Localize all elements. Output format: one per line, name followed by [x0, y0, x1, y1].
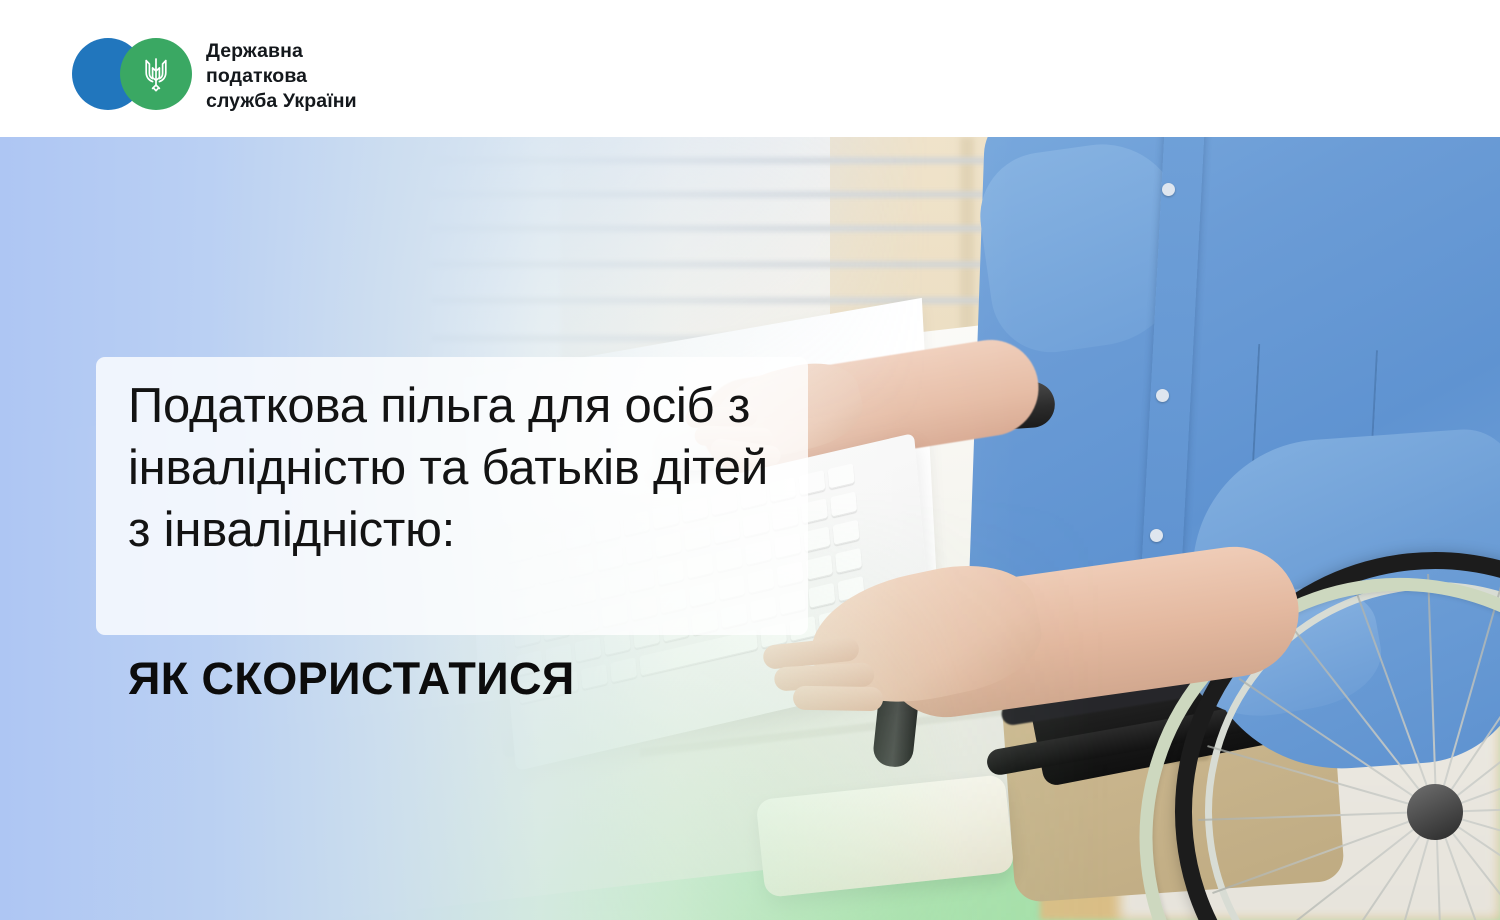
logo-wordmark: Державна податкова служба України [206, 38, 357, 114]
ukrainian-trident-icon [141, 55, 171, 93]
hero-title: Податкова пільга для осіб з інвалідністю… [128, 375, 788, 561]
green-circle-icon [120, 38, 192, 110]
hero-artwork: Податкова пільга для осіб з інвалідністю… [0, 137, 1500, 920]
logo-wordmark-line-2: податкова [206, 64, 357, 89]
title-card: Податкова пільга для осіб з інвалідністю… [96, 357, 808, 635]
banner-root: Державна податкова служба України [0, 0, 1500, 920]
logo-block[interactable]: Державна податкова служба України [72, 38, 357, 114]
site-header: Державна податкова служба України [0, 0, 1500, 137]
logo-marks [72, 38, 192, 110]
logo-wordmark-line-3: служба України [206, 89, 357, 114]
logo-wordmark-line-1: Державна [206, 39, 357, 64]
hero-subtitle: ЯК СКОРИСТАТИСЯ [128, 651, 575, 707]
